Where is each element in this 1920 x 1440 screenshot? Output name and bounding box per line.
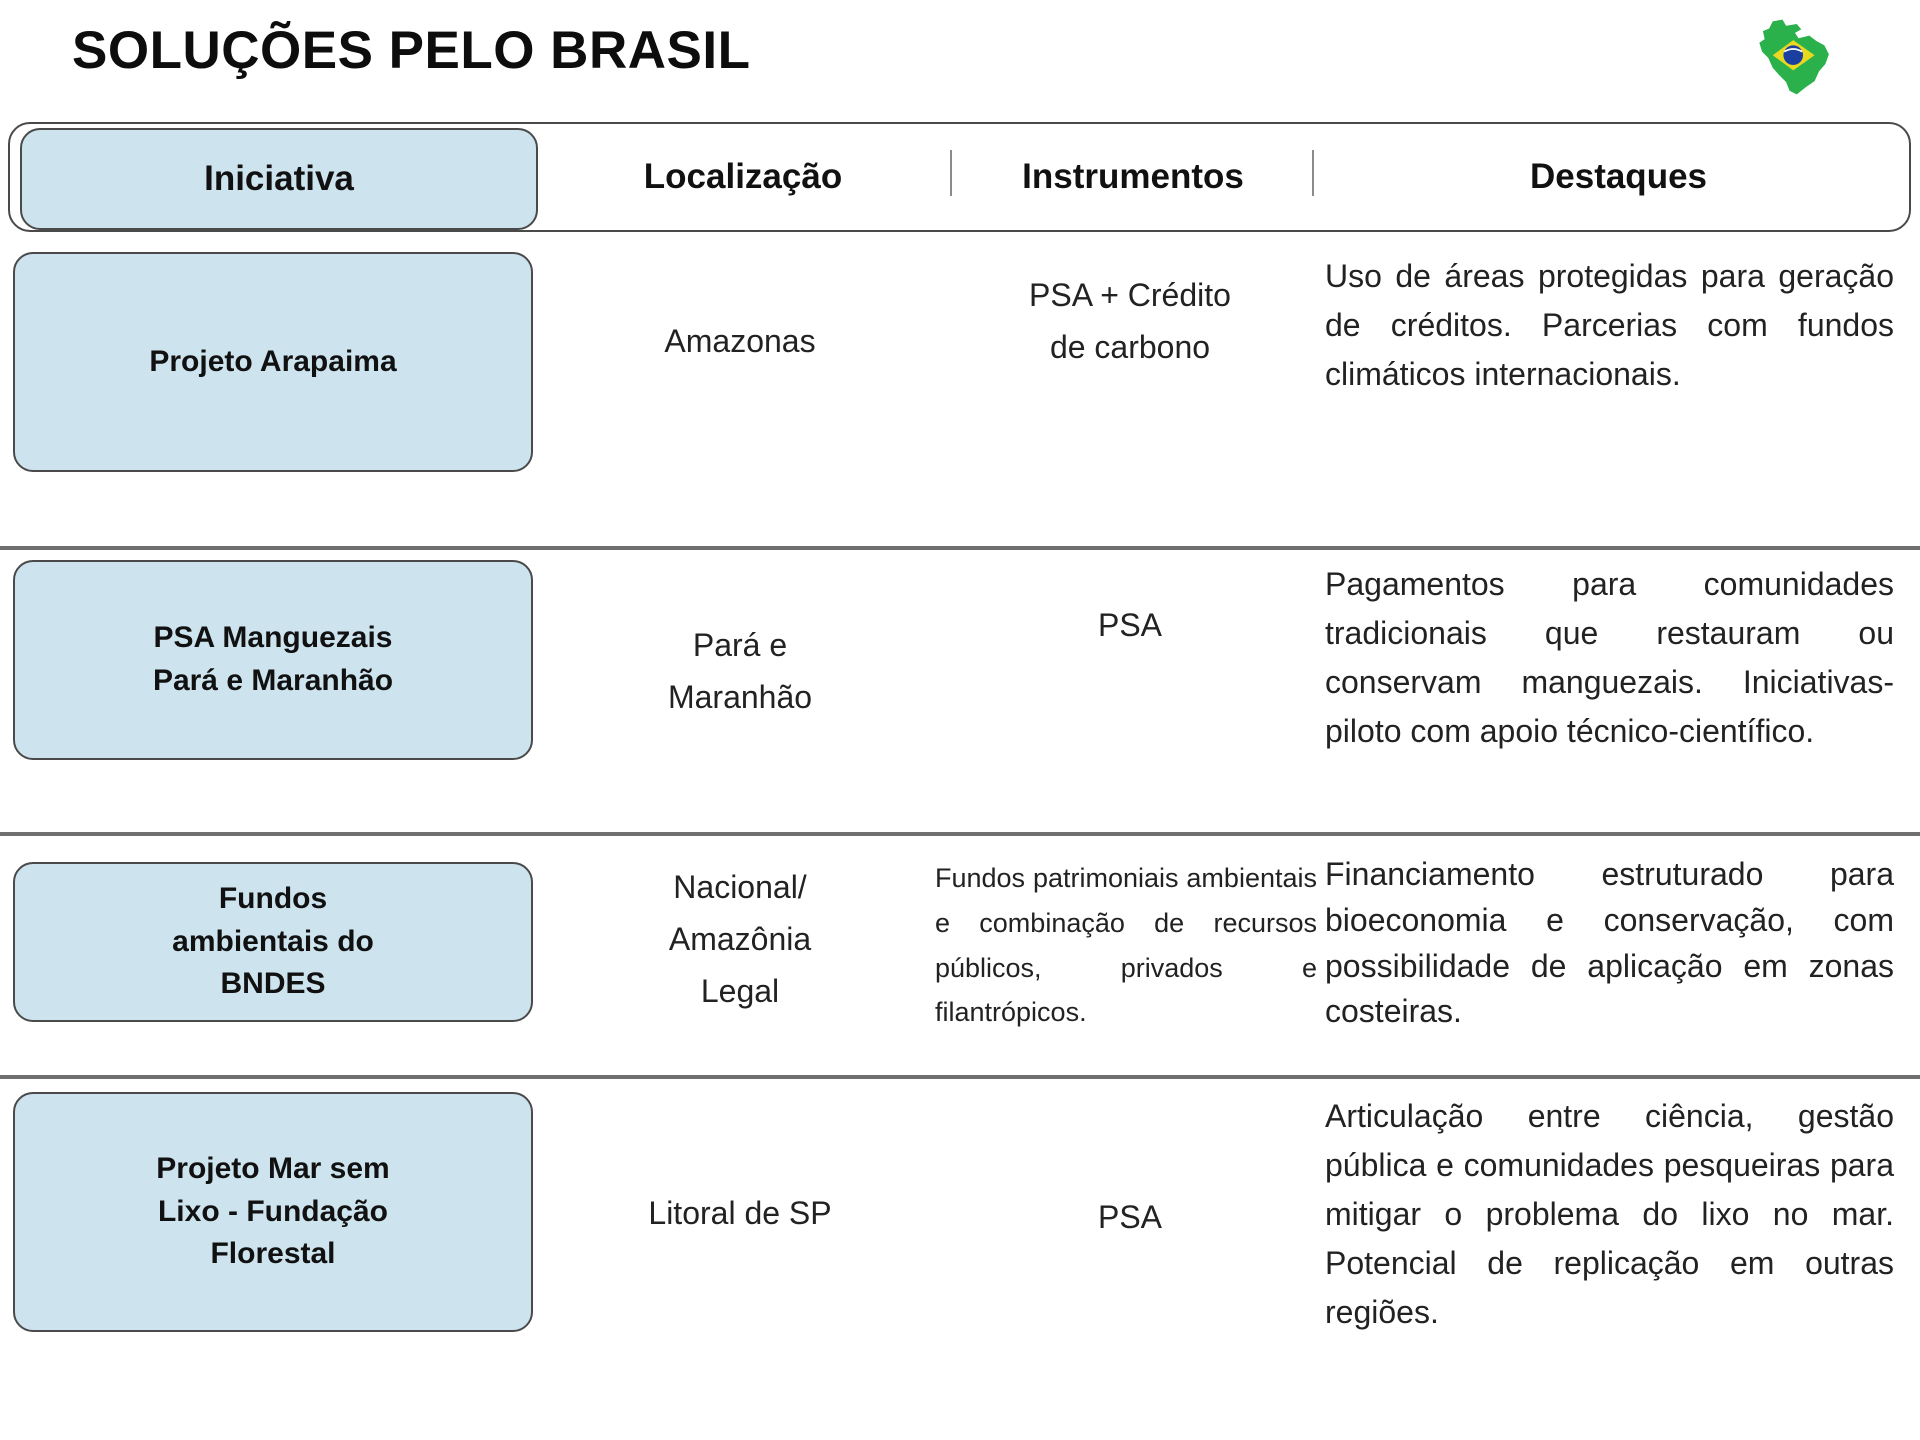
page-header: SOLUÇÕES PELO BRASIL [0,0,1920,100]
initiative-box[interactable]: Projeto Mar semLixo - FundaçãoFlorestal [13,1092,533,1332]
cell-localizacao: Pará eMaranhão [545,560,935,760]
column-header-iniciativa: Iniciativa [10,124,548,230]
initiative-box[interactable]: Fundosambientais doBNDES [13,862,533,1022]
cell-iniciativa: Projeto Mar semLixo - FundaçãoFlorestal [0,1092,545,1332]
column-header-instrumentos-label: Instrumentos [1022,157,1244,197]
column-header-localizacao-label: Localização [644,157,842,197]
table-row: Projeto Mar semLixo - FundaçãoFlorestal … [0,1092,1920,1332]
cell-localizacao: Amazonas [545,252,935,450]
column-header-localizacao: Localização [548,124,938,230]
table-row: Fundosambientais doBNDES Nacional/Amazôn… [0,850,1920,1040]
cell-instrumentos: PSA [935,1092,1325,1332]
table-row: Projeto Arapaima Amazonas PSA + Créditod… [0,252,1920,450]
table-header-row: Iniciativa Localização Instrumentos Dest… [8,122,1911,232]
brazil-map-flag-icon [1748,16,1842,98]
cell-destaques: Articulação entre ciência, gestão públic… [1325,1092,1920,1332]
row-divider [0,832,1920,836]
cell-iniciativa: PSA ManguezaisPará e Maranhão [0,560,545,760]
cell-destaques: Pagamentos para comunidades tradicionais… [1325,560,1920,760]
cell-iniciativa: Fundosambientais doBNDES [0,850,545,1040]
cell-instrumentos: Fundos patrimoniais ambientais e combina… [935,850,1325,1040]
page-title: SOLUÇÕES PELO BRASIL [72,20,750,81]
cell-instrumentos: PSA [935,560,1325,760]
cell-iniciativa: Projeto Arapaima [0,252,545,450]
header-divider-1 [950,150,952,196]
row-divider [0,1075,1920,1079]
header-divider-2 [1312,150,1314,196]
column-header-instrumentos: Instrumentos [938,124,1328,230]
table-row: PSA ManguezaisPará e Maranhão Pará eMara… [0,560,1920,760]
column-header-iniciativa-label: Iniciativa [204,159,354,199]
row-divider [0,546,1920,550]
cell-localizacao: Litoral de SP [545,1092,935,1332]
initiative-box[interactable]: PSA ManguezaisPará e Maranhão [13,560,533,760]
cell-destaques: Financiamento estruturado para bioeconom… [1325,850,1920,1040]
cell-localizacao: Nacional/AmazôniaLegal [545,850,935,1040]
column-header-iniciativa-pill: Iniciativa [20,128,538,230]
initiative-box[interactable]: Projeto Arapaima [13,252,533,472]
column-header-destaques-label: Destaques [1530,157,1707,197]
column-header-destaques: Destaques [1328,124,1909,230]
cell-instrumentos: PSA + Créditode carbono [935,252,1325,450]
cell-destaques: Uso de áreas protegidas para geração de … [1325,252,1920,450]
